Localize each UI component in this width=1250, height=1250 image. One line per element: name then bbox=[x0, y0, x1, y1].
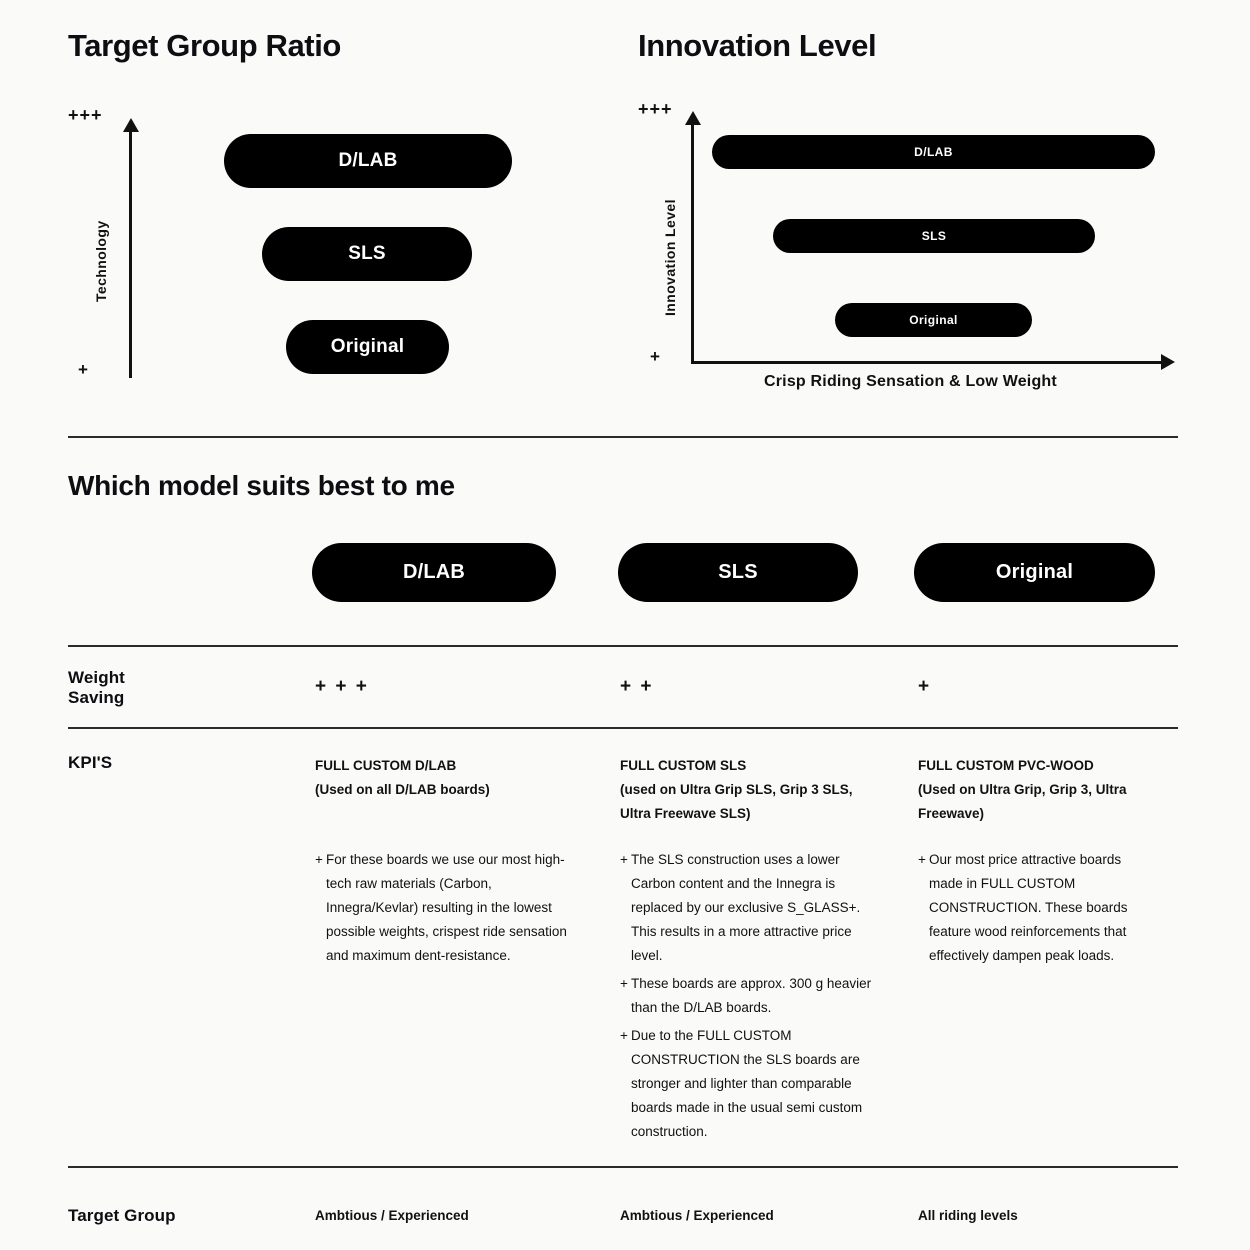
row-label-target-group: Target Group bbox=[68, 1206, 176, 1226]
kpi-bullet-marker: + bbox=[315, 848, 326, 968]
model-pill-original-label: Original bbox=[996, 561, 1073, 584]
kpi-bullet-marker: + bbox=[620, 972, 631, 1020]
chart-title-target-group-ratio: Target Group Ratio bbox=[68, 28, 341, 64]
chart2-pill-dlab[interactable]: D/LAB bbox=[712, 135, 1155, 169]
kpi-bullet-item: + These boards are approx. 300 g heavier… bbox=[620, 972, 878, 1020]
weight-saving-value-original: + bbox=[918, 676, 931, 698]
y-axis-label-innovation-level: Innovation Level bbox=[662, 199, 678, 316]
y-axis-line bbox=[691, 123, 694, 363]
target-group-value-sls: Ambtious / Experienced bbox=[620, 1208, 774, 1223]
kpi-bullet-marker: + bbox=[918, 848, 929, 968]
model-pill-sls-label: SLS bbox=[718, 561, 758, 584]
chart1-pill-original[interactable]: Original bbox=[286, 320, 449, 374]
chart1-pill-sls[interactable]: SLS bbox=[262, 227, 472, 281]
kpi-bullet-text: Our most price attractive boards made in… bbox=[929, 848, 1158, 968]
row-label-weight-saving: Weight Saving bbox=[68, 668, 125, 709]
kpi-heading-sls: FULL CUSTOM SLS (used on Ultra Grip SLS,… bbox=[620, 754, 885, 826]
y-axis-label-technology: Technology bbox=[93, 220, 109, 302]
chart-title-innovation-level: Innovation Level bbox=[638, 28, 876, 64]
divider-top bbox=[68, 436, 1178, 438]
y-axis-line bbox=[129, 130, 132, 378]
target-group-value-dlab: Ambtious / Experienced bbox=[315, 1208, 469, 1223]
divider-weight-saving-top bbox=[68, 645, 1178, 647]
page-root: Target Group Ratio +++ + Technology D/LA… bbox=[0, 0, 1250, 1250]
kpi-body-original: + Our most price attractive boards made … bbox=[918, 848, 1158, 972]
chart1-pill-dlab-label: D/LAB bbox=[338, 150, 397, 172]
x-axis-line bbox=[691, 361, 1161, 364]
x-axis-arrow-icon bbox=[1161, 354, 1175, 370]
chart-innovation-level: +++ + Innovation Level Crisp Riding Sens… bbox=[630, 95, 1200, 405]
weight-saving-value-sls: + + bbox=[620, 676, 653, 698]
kpi-body-sls: + The SLS construction uses a lower Carb… bbox=[620, 848, 878, 1148]
kpi-body-dlab: + For these boards we use our most high-… bbox=[315, 848, 570, 972]
kpi-bullet-item: + The SLS construction uses a lower Carb… bbox=[620, 848, 878, 968]
x-axis-label-crisp-riding: Crisp Riding Sensation & Low Weight bbox=[764, 373, 1057, 391]
chart2-pill-dlab-label: D/LAB bbox=[914, 145, 953, 159]
chart1-pill-dlab[interactable]: D/LAB bbox=[224, 134, 512, 188]
row-label-kpis: KPI'S bbox=[68, 753, 112, 773]
chart1-pill-sls-label: SLS bbox=[348, 243, 386, 265]
kpi-bullet-text: Due to the FULL CUSTOM CONSTRUCTION the … bbox=[631, 1024, 878, 1144]
y-axis-bottom-tick-label: + bbox=[78, 360, 88, 380]
chart2-pill-sls-label: SLS bbox=[922, 229, 947, 243]
chart2-pill-original-label: Original bbox=[909, 313, 958, 327]
y-axis-bottom-tick-label: + bbox=[650, 347, 660, 367]
model-pill-dlab[interactable]: D/LAB bbox=[312, 543, 556, 602]
kpi-heading-dlab: FULL CUSTOM D/LAB (Used on all D/LAB boa… bbox=[315, 754, 585, 802]
chart-target-group-ratio: +++ + Technology D/LAB SLS Original bbox=[60, 95, 620, 395]
model-pill-dlab-label: D/LAB bbox=[403, 561, 465, 584]
divider-target-group-top bbox=[68, 1166, 1178, 1168]
kpi-bullet-text: The SLS construction uses a lower Carbon… bbox=[631, 848, 878, 968]
model-pill-original[interactable]: Original bbox=[914, 543, 1155, 602]
y-axis-top-tick-label: +++ bbox=[68, 105, 103, 126]
kpi-heading-original: FULL CUSTOM PVC-WOOD (Used on Ultra Grip… bbox=[918, 754, 1158, 826]
section-title-which-model: Which model suits best to me bbox=[68, 470, 455, 502]
kpi-bullet-item: + Due to the FULL CUSTOM CONSTRUCTION th… bbox=[620, 1024, 878, 1144]
y-axis-top-tick-label: +++ bbox=[638, 99, 673, 120]
kpi-bullet-marker: + bbox=[620, 848, 631, 968]
weight-saving-value-dlab: + + + bbox=[315, 676, 369, 698]
divider-kpis-top bbox=[68, 727, 1178, 729]
target-group-value-original: All riding levels bbox=[918, 1208, 1018, 1223]
kpi-bullet-item: + For these boards we use our most high-… bbox=[315, 848, 570, 968]
kpi-bullet-text: For these boards we use our most high-te… bbox=[326, 848, 570, 968]
chart2-pill-original[interactable]: Original bbox=[835, 303, 1032, 337]
model-pill-sls[interactable]: SLS bbox=[618, 543, 858, 602]
kpi-bullet-text: These boards are approx. 300 g heavier t… bbox=[631, 972, 878, 1020]
chart1-pill-original-label: Original bbox=[331, 336, 404, 358]
chart2-pill-sls[interactable]: SLS bbox=[773, 219, 1095, 253]
kpi-bullet-item: + Our most price attractive boards made … bbox=[918, 848, 1158, 968]
kpi-bullet-marker: + bbox=[620, 1024, 631, 1144]
